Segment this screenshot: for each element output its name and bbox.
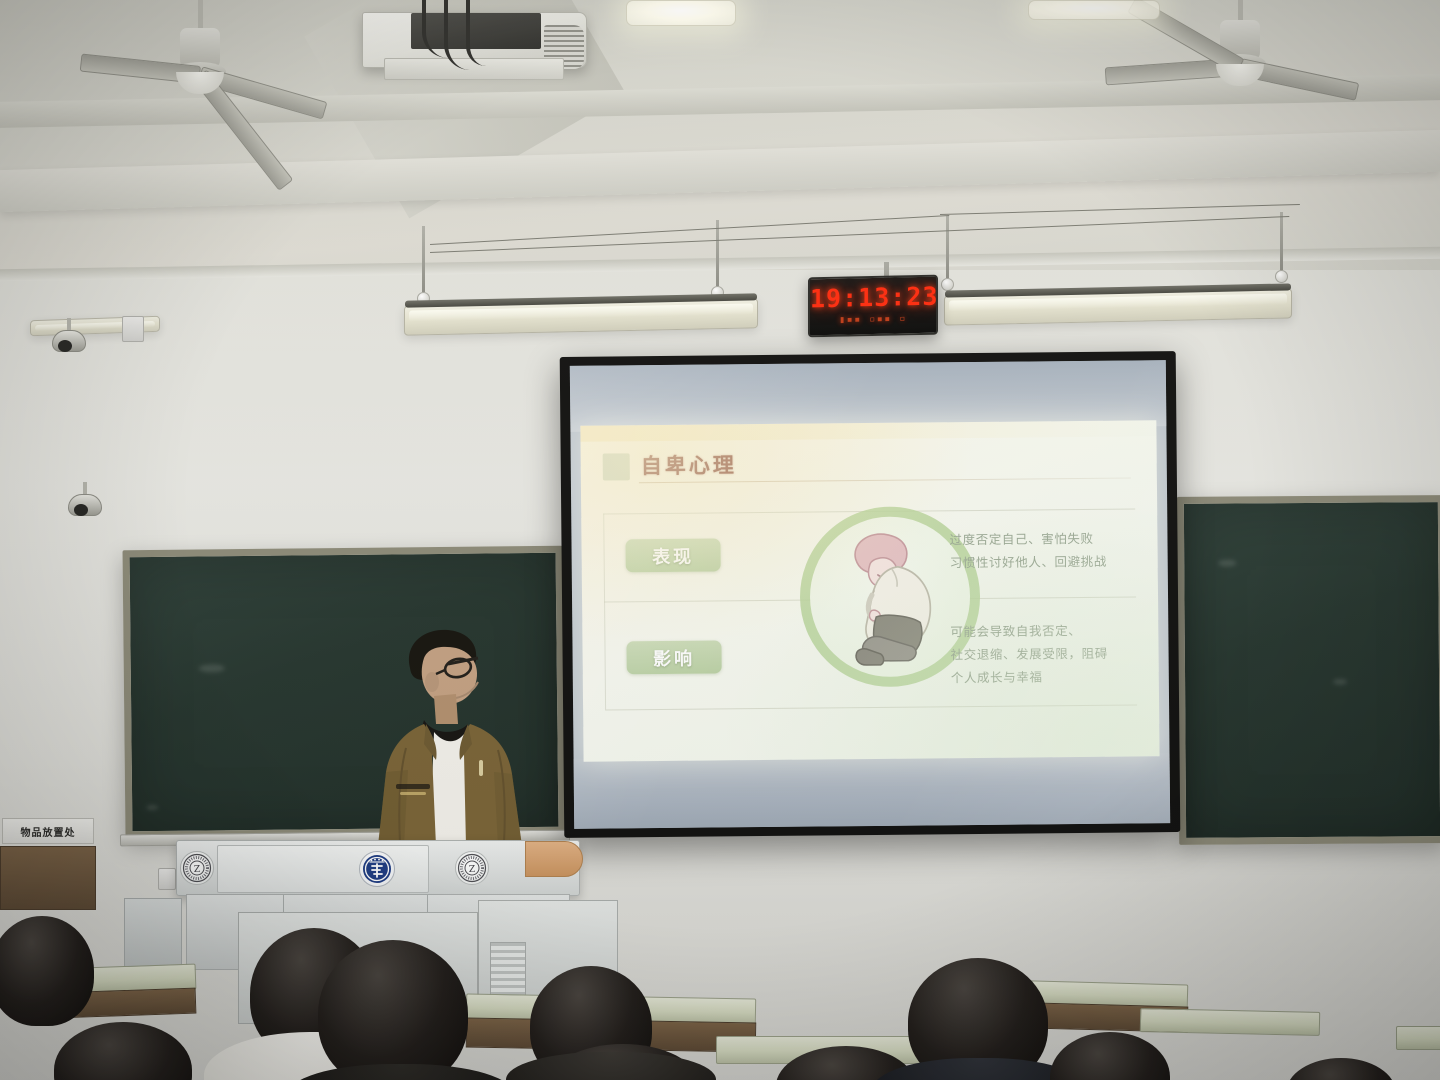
ceiling-fan-left xyxy=(100,0,300,130)
presentation-slide: 自卑心理 表现 影响 xyxy=(580,420,1159,762)
wall-switch[interactable] xyxy=(158,868,176,890)
chalk-smudge xyxy=(1218,560,1236,567)
security-camera-lower-left xyxy=(68,482,102,518)
camera-lens xyxy=(74,504,88,516)
light-hanger-rod xyxy=(946,216,949,278)
slide-tag-label: 表现 xyxy=(652,542,694,568)
presenter xyxy=(352,620,552,852)
slide-text-line: 可能会导致自我否定、 xyxy=(950,618,1136,643)
student-desk xyxy=(1396,1026,1440,1050)
podium-side-cabinet xyxy=(124,898,182,974)
podium-seal-right: Z xyxy=(455,851,489,885)
light-hanger-knob xyxy=(1275,270,1288,283)
svg-text:Z: Z xyxy=(469,865,475,875)
slide-title: 自卑心理 xyxy=(641,449,737,480)
blackboard-right xyxy=(1177,495,1440,845)
slide-body: 表现 影响 xyxy=(603,508,1137,745)
chalk-smudge xyxy=(199,664,225,672)
ceiling-light-center xyxy=(626,0,736,26)
circular-seal-icon: Z xyxy=(182,853,212,883)
light-hanger-rod xyxy=(422,226,425,292)
svg-text:Z: Z xyxy=(194,865,200,875)
clock-secondary-display: ▮▪▪ ▫▪▪ ▫ xyxy=(810,313,936,327)
slide-tag-manifestation: 表现 xyxy=(625,538,720,572)
presenter-figure xyxy=(352,620,552,852)
ceiling-fan-right xyxy=(1140,0,1340,120)
camera-lens xyxy=(58,340,72,352)
security-camera-upper-left xyxy=(52,318,86,354)
light-hanger-rod xyxy=(1280,212,1283,270)
university-crest-icon xyxy=(361,853,393,885)
wall-sign-storage: 物品放置处 xyxy=(2,818,94,844)
podium-front-panel xyxy=(217,845,429,893)
clock-time-display: 19:13:23 xyxy=(810,282,936,314)
equipment-vent xyxy=(490,942,526,996)
screen-surface: 自卑心理 表现 影响 xyxy=(570,360,1170,829)
digital-clock: 19:13:23 ▮▪▪ ▫▪▪ ▫ xyxy=(808,275,938,338)
audience-head xyxy=(318,940,468,1080)
slide-tag-label: 影响 xyxy=(653,644,695,670)
slide-header: 自卑心理 xyxy=(603,446,1131,487)
slide-text-line: 习惯性讨好他人、回避挑战 xyxy=(950,550,1136,575)
slide-title-chip xyxy=(603,453,630,480)
side-counter-left xyxy=(0,846,96,910)
fan-rod xyxy=(198,0,203,30)
projector-cable xyxy=(466,0,486,66)
slide-left-vertical-rule xyxy=(603,514,606,710)
person-hugging-knees-icon xyxy=(825,524,954,669)
slide-text-effect: 可能会导致自我否定、 社交退缩、发展受限，阻碍 个人成长与幸福 xyxy=(950,618,1137,689)
fan-rod xyxy=(1238,0,1243,22)
projection-screen: 自卑心理 表现 影响 xyxy=(560,351,1181,838)
slide-text-manifestation: 过度否定自己、害怕失败 习惯性讨好他人、回避挑战 xyxy=(949,526,1135,574)
circular-seal-icon: Z xyxy=(457,853,487,883)
slide-text-line: 社交退缩、发展受限，阻碍 xyxy=(950,642,1136,667)
light-hanger-knob xyxy=(941,278,954,291)
slide-divider xyxy=(605,704,1137,710)
podium-seal-left: Z xyxy=(180,851,214,885)
student-desk xyxy=(1140,1008,1320,1036)
lecture-hall-scene: 19:13:23 ▮▪▪ ▫▪▪ ▫ 自卑心理 xyxy=(0,0,1440,1080)
wall-socket[interactable] xyxy=(122,316,144,342)
slide-tag-effect: 影响 xyxy=(626,640,721,674)
ceiling-light-right xyxy=(1028,0,1160,20)
chalk-smudge xyxy=(146,805,158,810)
slide-text-line: 个人成长与幸福 xyxy=(951,665,1137,690)
podium-wood-cap xyxy=(525,841,583,877)
fan-light xyxy=(1216,64,1264,86)
podium-top: Z Z xyxy=(176,840,580,896)
slide-text-line: 过度否定自己、害怕失败 xyxy=(949,526,1135,551)
ceiling-projector xyxy=(362,2,602,80)
light-hanger-rod xyxy=(716,220,719,286)
screen-band-bottom xyxy=(574,753,1171,829)
chalk-smudge xyxy=(1333,679,1347,685)
podium-university-emblem xyxy=(359,851,395,887)
audience-head xyxy=(0,916,94,1026)
